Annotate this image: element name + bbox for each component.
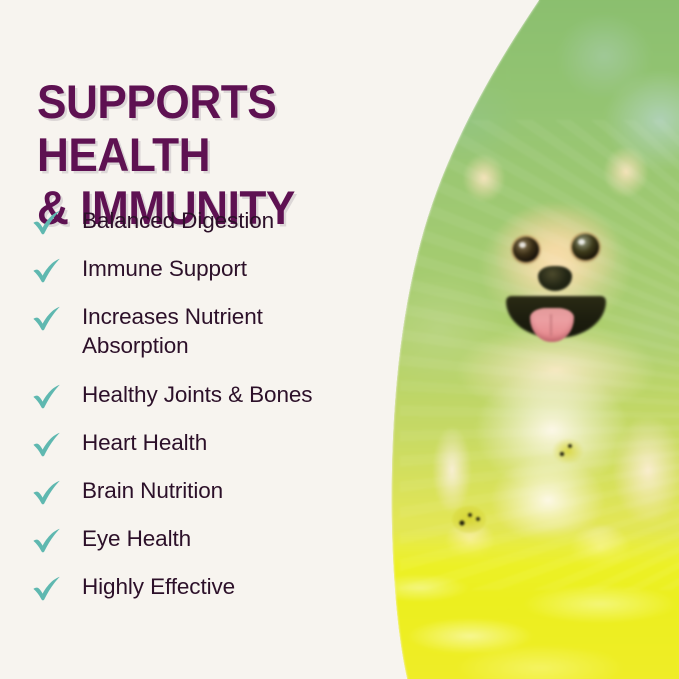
list-item: Immune Support (0, 254, 400, 296)
list-item: Highly Effective (0, 572, 400, 614)
list-item: Heart Health (0, 428, 400, 470)
benefit-label: Heart Health (82, 428, 400, 457)
check-icon (32, 524, 82, 554)
check-icon (32, 476, 82, 506)
benefits-content: Supports Health & Immunity Balanced Dige… (0, 0, 400, 679)
check-icon (32, 380, 82, 410)
benefit-label: Increases Nutrient Absorption (82, 302, 400, 360)
benefit-label: Eye Health (82, 524, 400, 553)
check-icon (32, 572, 82, 602)
benefit-label: Brain Nutrition (82, 476, 400, 505)
list-item: Brain Nutrition (0, 476, 400, 518)
benefit-label: Balanced Digestion (82, 206, 400, 235)
check-icon (32, 302, 82, 332)
product-benefits-banner: Supports Health & Immunity Balanced Dige… (0, 0, 679, 679)
benefit-label: Healthy Joints & Bones (82, 380, 400, 409)
check-icon (32, 428, 82, 458)
benefit-label: Highly Effective (82, 572, 400, 601)
benefits-list: Balanced Digestion Immune Support Increa… (0, 206, 400, 620)
check-icon (32, 254, 82, 284)
list-item: Balanced Digestion (0, 206, 400, 248)
list-item: Eye Health (0, 524, 400, 566)
list-item: Increases Nutrient Absorption (0, 302, 400, 374)
check-icon (32, 206, 82, 236)
benefit-label: Immune Support (82, 254, 400, 283)
list-item: Healthy Joints & Bones (0, 380, 400, 422)
